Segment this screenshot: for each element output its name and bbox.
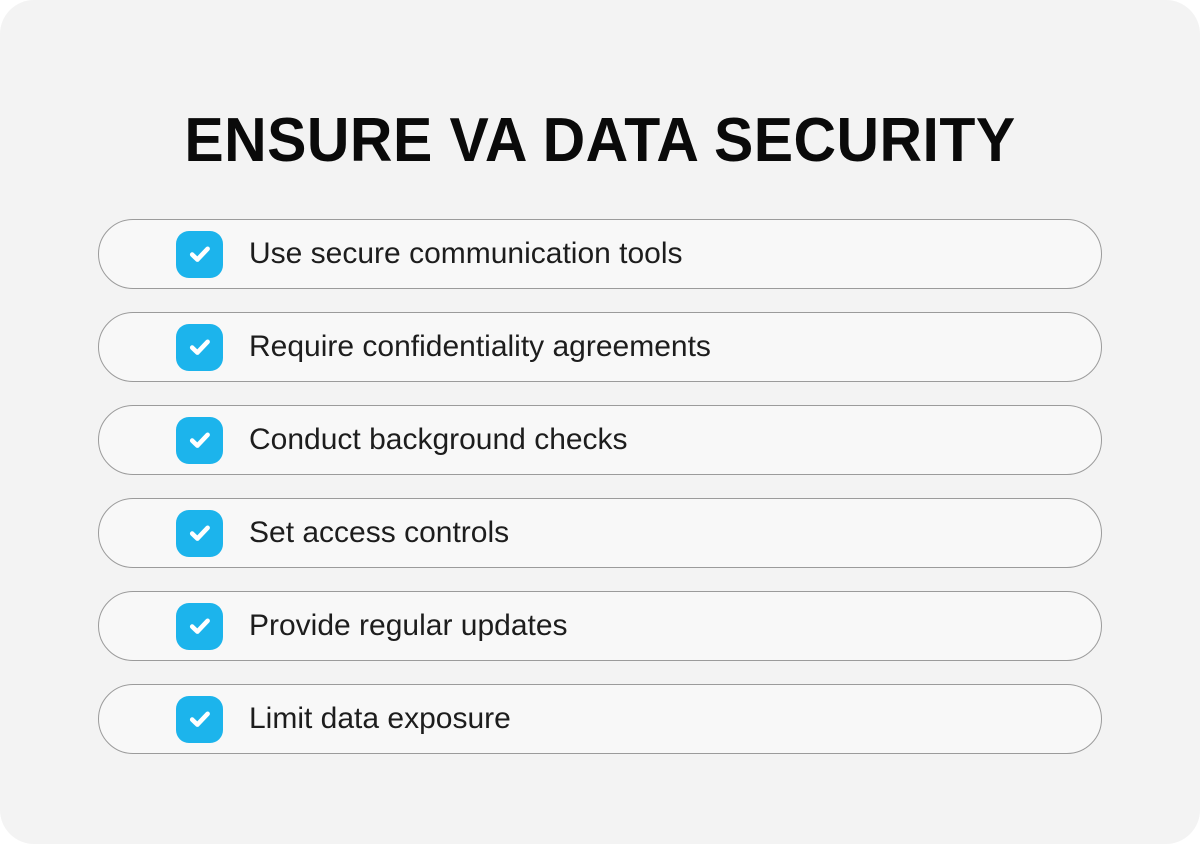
list-item[interactable]: Use secure communication tools [98, 219, 1102, 289]
checkbox-checked-icon[interactable] [176, 231, 223, 278]
list-item[interactable]: Provide regular updates [98, 591, 1102, 661]
list-item[interactable]: Limit data exposure [98, 684, 1102, 754]
checkbox-checked-icon[interactable] [176, 510, 223, 557]
checklist: Use secure communication tools Require c… [98, 219, 1102, 754]
page-title: ENSURE VA DATA SECURITY [30, 110, 1170, 172]
list-item-label: Provide regular updates [249, 611, 568, 641]
list-item[interactable]: Conduct background checks [98, 405, 1102, 475]
checkbox-checked-icon[interactable] [176, 696, 223, 743]
list-item-label: Use secure communication tools [249, 239, 683, 269]
list-item-label: Set access controls [249, 518, 509, 548]
list-item-label: Limit data exposure [249, 704, 511, 734]
checklist-card: ENSURE VA DATA SECURITY Use secure commu… [0, 0, 1200, 844]
checkbox-checked-icon[interactable] [176, 603, 223, 650]
checkbox-checked-icon[interactable] [176, 417, 223, 464]
list-item-label: Require confidentiality agreements [249, 332, 711, 362]
checkbox-checked-icon[interactable] [176, 324, 223, 371]
list-item[interactable]: Require confidentiality agreements [98, 312, 1102, 382]
list-item-label: Conduct background checks [249, 425, 628, 455]
list-item[interactable]: Set access controls [98, 498, 1102, 568]
